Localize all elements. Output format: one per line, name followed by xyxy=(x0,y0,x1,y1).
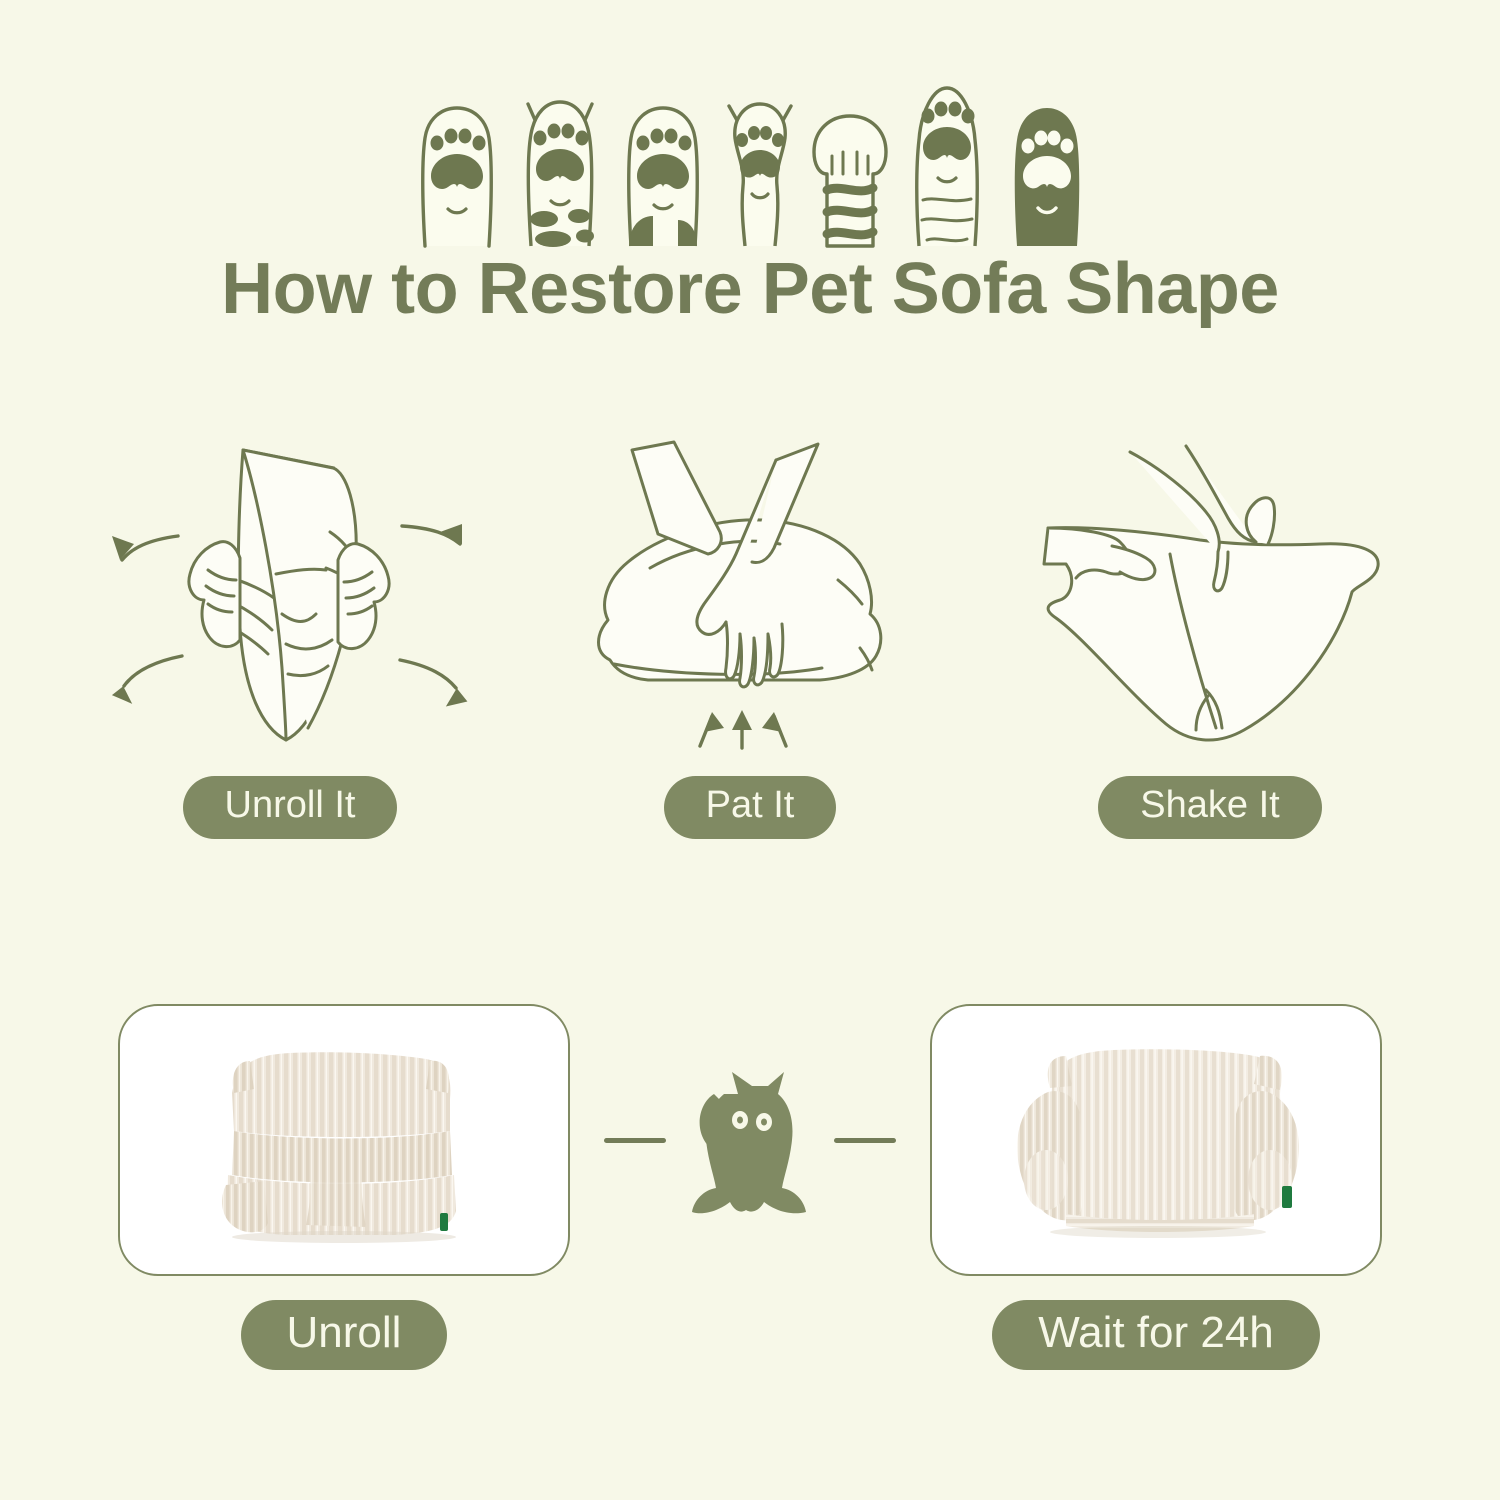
sitting-cat-silhouette-icon xyxy=(690,1060,810,1220)
comparison-row xyxy=(0,995,1500,1285)
step-shake-it-illustration xyxy=(1020,425,1400,770)
step-label-pat-it: Pat It xyxy=(664,776,837,839)
cat-paw-spotted-icon xyxy=(615,88,711,248)
page-title: How to Restore Pet Sofa Shape xyxy=(0,252,1500,328)
after-label-slot: Wait for 24h xyxy=(930,1300,1382,1370)
after-photo-card xyxy=(930,1004,1382,1276)
compressed-pet-sofa-image xyxy=(194,1035,494,1245)
before-label-slot: Unroll xyxy=(118,1300,570,1370)
cat-paw-outline-icon xyxy=(409,88,505,248)
steps-row: Unroll It xyxy=(0,425,1500,865)
comparison-separator xyxy=(570,1060,930,1220)
step-shake-it: Shake It xyxy=(980,425,1440,839)
cat-paws-row xyxy=(0,58,1500,248)
cat-paw-striped-bold-icon xyxy=(809,100,891,248)
cat-paw-solid-icon xyxy=(1003,92,1091,248)
cat-paw-striped-spotted-icon xyxy=(511,76,609,248)
after-label: Wait for 24h xyxy=(992,1300,1320,1370)
separator-dash-left xyxy=(604,1138,666,1143)
cat-paw-striped-outline-icon xyxy=(897,66,997,248)
before-label: Unroll xyxy=(241,1300,448,1370)
before-photo-card xyxy=(118,1004,570,1276)
cat-paw-tufted-icon xyxy=(717,76,803,248)
step-label-unroll-it: Unroll It xyxy=(183,776,398,839)
step-unroll-it-illustration xyxy=(90,425,490,770)
comparison-labels-row: Unroll Wait for 24h xyxy=(0,1300,1500,1370)
separator-dash-right xyxy=(834,1138,896,1143)
step-label-shake-it: Shake It xyxy=(1098,776,1321,839)
restored-pet-sofa-image xyxy=(996,1030,1316,1250)
step-pat-it-illustration xyxy=(570,425,930,770)
step-pat-it: Pat It xyxy=(520,425,980,839)
infographic-root: How to Restore Pet Sofa Shape xyxy=(0,0,1500,1500)
step-unroll-it: Unroll It xyxy=(60,425,520,839)
